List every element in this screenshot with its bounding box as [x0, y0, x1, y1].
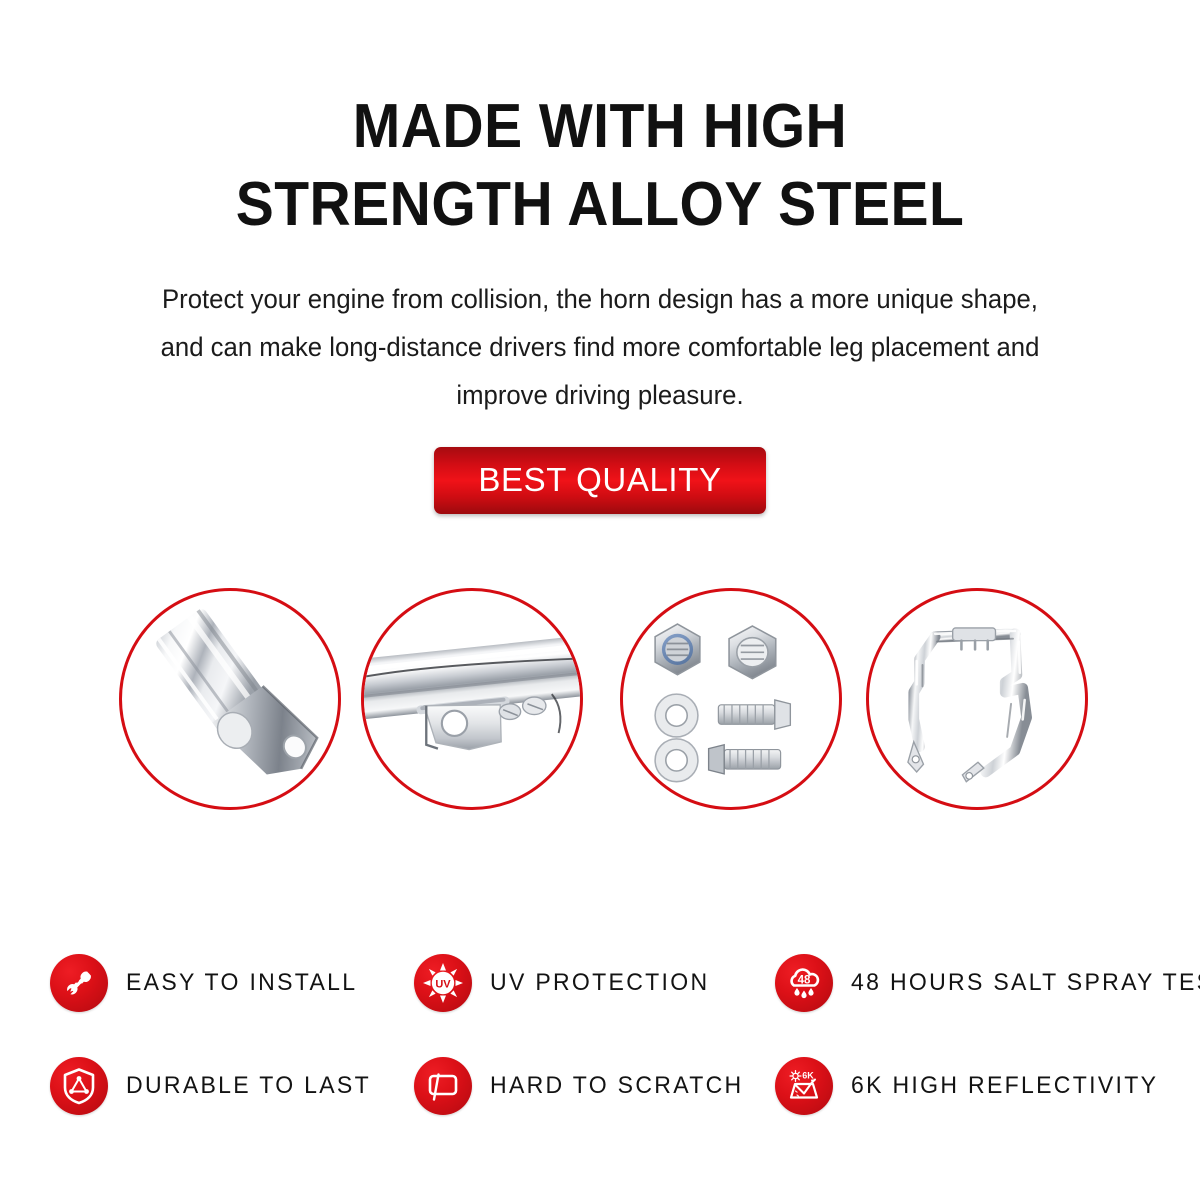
feature-item-durable-to-last: DURABLE TO LAST: [50, 1055, 381, 1117]
product-circle-tube-bracket-weld-closeup: [361, 588, 583, 810]
product-circle-mounting-bracket-closeup: [119, 588, 341, 810]
feature-label-easy-to-install: EASY TO INSTALL: [126, 969, 357, 997]
product-feature-page: MADE WITH HIGH STRENGTH ALLOY STEEL Prot…: [0, 0, 1200, 1200]
headline-line-1: MADE WITH HIGH: [48, 88, 1152, 166]
hardware-kit-image: [623, 591, 839, 807]
subhead-line-3: improve driving pleasure.: [86, 371, 1114, 419]
headline-line-2: STRENGTH ALLOY STEEL: [48, 166, 1152, 244]
engine-guard-image: [869, 591, 1085, 807]
subhead-line-1: Protect your engine from collision, the …: [86, 275, 1114, 323]
feature-label-uv-protection: UV PROTECTION: [490, 969, 709, 997]
feature-label-salt-spray-test: 48 HOURS SALT SPRAY TEST: [851, 969, 1200, 997]
feature-item-salt-spray-test: 48 48 HOURS SALT SPRAY TEST: [775, 952, 1200, 1014]
uv-icon-text: UV: [435, 978, 451, 990]
reflectivity-icon: 6K: [775, 1057, 833, 1115]
feature-label-high-reflectivity: 6K HIGH REFLECTIVITY: [851, 1072, 1158, 1100]
feature-list: EASY TO INSTALL: [0, 952, 1200, 1162]
page-title: MADE WITH HIGH STRENGTH ALLOY STEEL: [48, 88, 1152, 244]
feature-label-durable-to-last: DURABLE TO LAST: [126, 1072, 371, 1100]
feature-label-hard-to-scratch: HARD TO SCRATCH: [490, 1072, 743, 1100]
product-circle-chrome-engine-guard-crash-bar: [866, 588, 1088, 810]
feature-item-high-reflectivity: 6K 6K HIGH REFLECTIVITY: [775, 1055, 1171, 1117]
uv-sun-icon: UV: [414, 954, 472, 1012]
subhead-paragraph: Protect your engine from collision, the …: [86, 275, 1114, 419]
feature-item-uv-protection: UV UV PROTECTION: [414, 952, 719, 1014]
reflectivity-icon-text: 6K: [802, 1071, 814, 1081]
best-quality-badge: BEST QUALITY: [434, 447, 765, 514]
feature-item-hard-to-scratch: HARD TO SCRATCH: [414, 1055, 754, 1117]
subhead-line-2: and can make long-distance drivers find …: [86, 323, 1114, 371]
mounting-bracket-image: [122, 591, 338, 807]
scratch-panel-icon: [414, 1057, 472, 1115]
product-circle-nuts-bolts-washers-hardware: [620, 588, 842, 810]
tools-icon: [50, 954, 108, 1012]
shield-icon: [50, 1057, 108, 1115]
tube-bracket-image: [364, 591, 580, 807]
badge-container: BEST QUALITY: [0, 447, 1200, 514]
hours-icon-text: 48: [798, 975, 811, 987]
product-detail-circles: [0, 588, 1200, 816]
salt-spray-cloud-icon: 48: [775, 954, 833, 1012]
feature-item-easy-to-install: EASY TO INSTALL: [50, 952, 367, 1014]
